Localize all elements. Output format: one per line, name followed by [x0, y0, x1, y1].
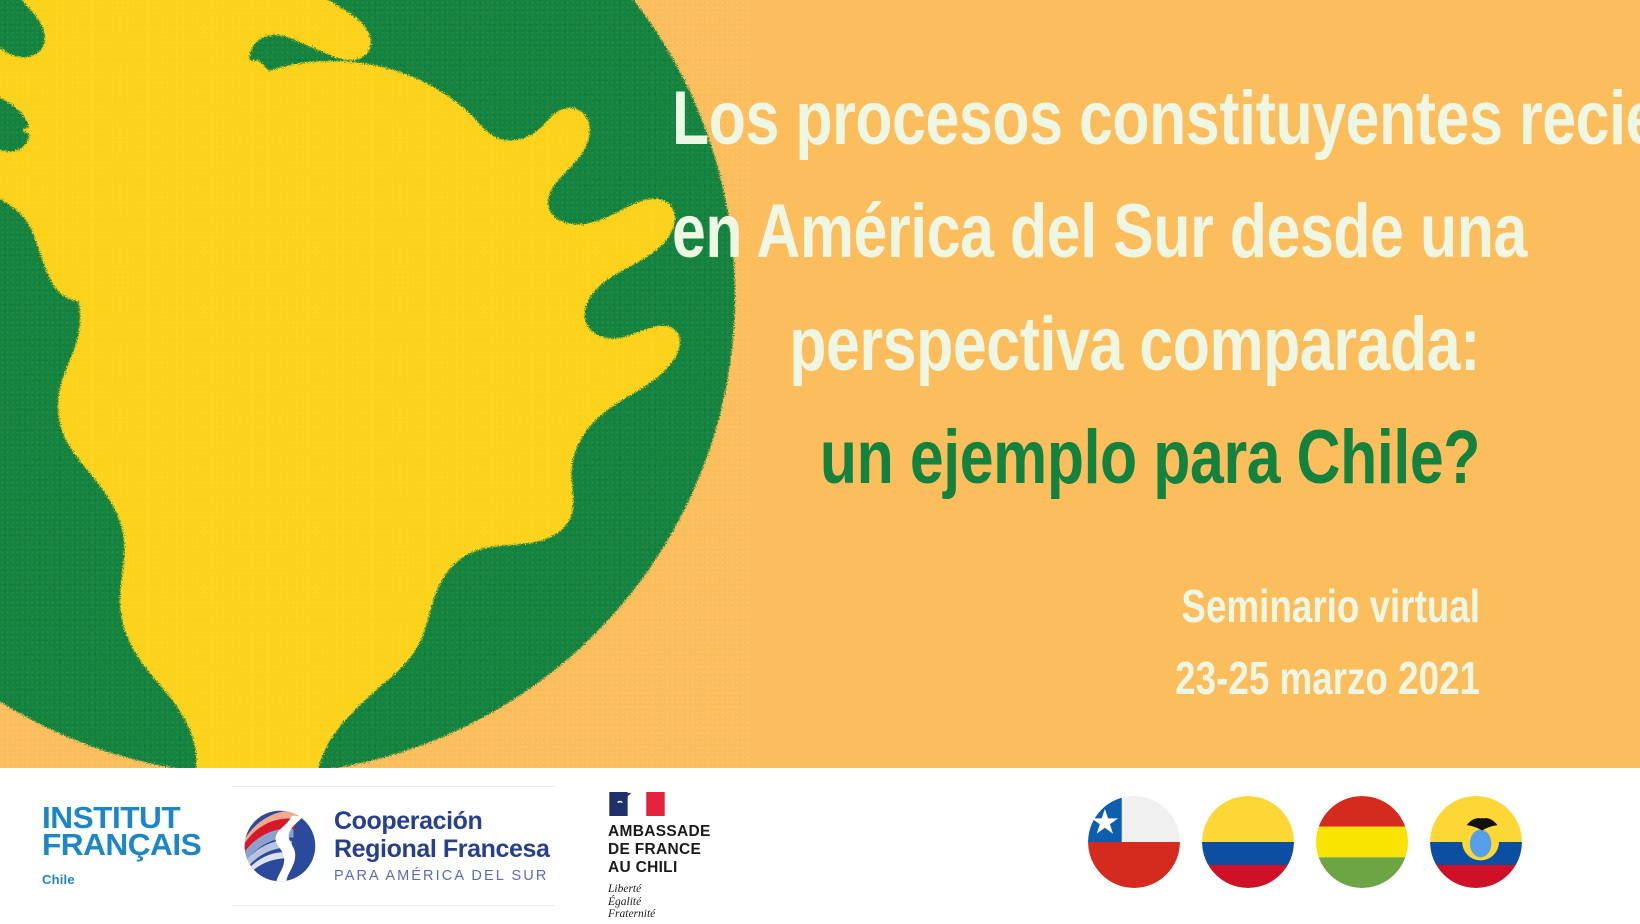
ambassade-motto: Liberté Égalité Fraternité	[608, 883, 738, 921]
svg-text:FRANÇAIS: FRANÇAIS	[42, 827, 201, 862]
flag-ecuador[interactable]	[1430, 796, 1522, 888]
ambassade-line-3: AU CHILI	[608, 859, 738, 877]
participating-countries-flags	[1088, 796, 1522, 888]
institut-francais-chile-logo[interactable]: INSTITUT FRANÇAIS Chile	[42, 802, 202, 887]
poster-subtitle: Seminario virtual 23-25 marzo 2021	[470, 570, 1480, 714]
subtitle-event-type: Seminario virtual	[672, 570, 1480, 642]
coop-globe-icon	[238, 804, 322, 888]
motto-fraternite: Fraternité	[608, 908, 738, 921]
ambassade-line-1: AMBASSADE	[608, 823, 738, 841]
institut-francais-country-label: Chile	[42, 872, 202, 887]
flag-chile[interactable]	[1088, 796, 1180, 888]
title-line-2: en América del Sur desde una	[672, 175, 1480, 288]
coop-line-3: PARA AMÉRICA DEL SUR	[334, 869, 550, 884]
flag-bolivia[interactable]	[1316, 796, 1408, 888]
motto-egalite: Égalité	[608, 896, 738, 909]
ambassade-wordmark: AMBASSADE DE FRANCE AU CHILI	[608, 823, 738, 877]
french-flag-marianne-icon	[608, 792, 666, 816]
motto-liberte: Liberté	[608, 883, 738, 896]
ambassade-de-france-au-chili-logo[interactable]: AMBASSADE DE FRANCE AU CHILI Liberté Éga…	[608, 792, 738, 921]
cooperacion-regional-francesa-logo[interactable]: Cooperación Regional Francesa PARA AMÉRI…	[232, 786, 554, 906]
title-line-1: Los procesos constituyentes recientes	[672, 62, 1480, 175]
footer-logo-bar: INSTITUT FRANÇAIS Chile	[0, 768, 1640, 924]
coop-wordmark: Cooperación Regional Francesa PARA AMÉRI…	[334, 809, 550, 884]
poster-root: Los procesos constituyentes recientes en…	[0, 0, 1640, 924]
ambassade-line-2: DE FRANCE	[608, 841, 738, 859]
flag-colombia[interactable]	[1202, 796, 1294, 888]
coop-line-1: Cooperación	[334, 809, 550, 834]
title-line-3: perspectiva comparada:	[672, 288, 1480, 401]
subtitle-dates: 23-25 marzo 2021	[672, 642, 1480, 714]
title-line-4: un ejemplo para Chile?	[672, 401, 1480, 514]
orange-background-band: Los procesos constituyentes recientes en…	[0, 0, 1640, 768]
poster-title: Los procesos constituyentes recientes en…	[470, 62, 1480, 514]
coop-line-2: Regional Francesa	[334, 837, 550, 862]
